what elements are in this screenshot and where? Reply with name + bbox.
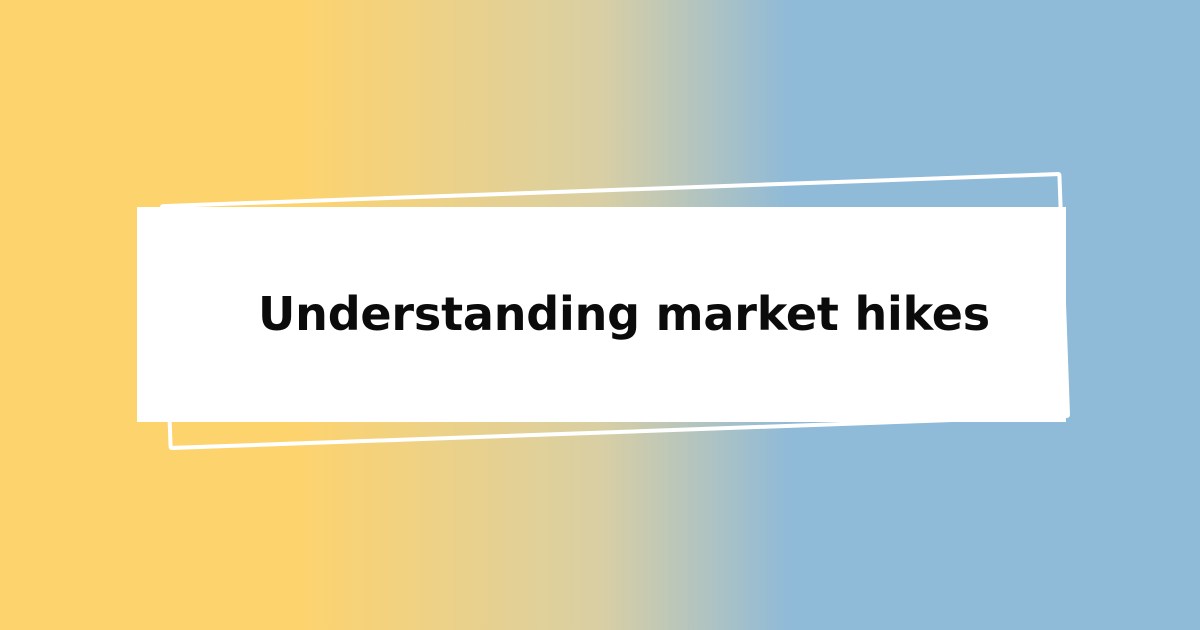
- promo-banner: Understanding market hikes: [0, 0, 1200, 630]
- page-title: Understanding market hikes: [258, 289, 990, 341]
- headline-card: Understanding market hikes: [137, 207, 1066, 422]
